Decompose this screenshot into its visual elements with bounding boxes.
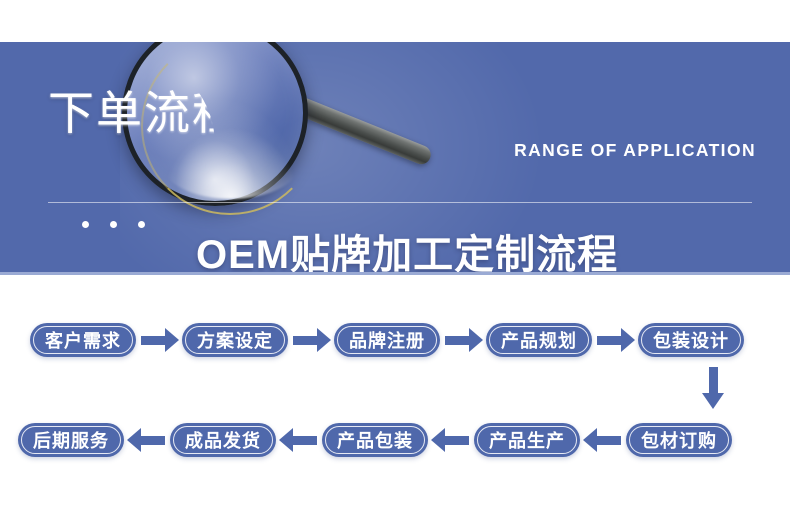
banner-dot	[82, 221, 89, 228]
flow-step-label: 方案设定	[197, 327, 273, 353]
flow-step-after-sales-service[interactable]: 后期服务	[18, 423, 124, 457]
page-title: OEM贴牌加工定制流程	[196, 232, 618, 275]
flow-step-production[interactable]: 产品生产	[474, 423, 580, 457]
arrow-left-icon	[428, 427, 474, 453]
flow-step-label: 产品生产	[489, 427, 565, 453]
banner-dots	[82, 221, 145, 228]
flow-step-label: 包装设计	[653, 327, 729, 353]
arrow-right-icon	[592, 327, 638, 353]
arrow-right-icon	[136, 327, 182, 353]
flow-step-label: 客户需求	[45, 327, 121, 353]
flow-step-label: 后期服务	[33, 427, 109, 453]
banner-dot	[138, 221, 145, 228]
flow-row-top: 客户需求 方案设定 品牌注册 产品规划 包装设计	[30, 323, 744, 357]
process-flow-diagram: 客户需求 方案设定 品牌注册 产品规划 包装设计 后期服务 成品发货	[0, 275, 790, 529]
arrow-left-icon	[124, 427, 170, 453]
flow-step-label: 包材订购	[641, 427, 717, 453]
arrow-left-icon	[276, 427, 322, 453]
flow-step-label: 成品发货	[185, 427, 261, 453]
flow-row-bottom: 后期服务 成品发货 产品包装 产品生产 包材订购	[18, 423, 732, 457]
flow-step-customer-requirement[interactable]: 客户需求	[30, 323, 136, 357]
arrow-right-icon	[440, 327, 486, 353]
flow-step-label: 品牌注册	[349, 327, 425, 353]
banner-divider	[48, 202, 752, 203]
arrow-down-icon	[702, 367, 724, 413]
flow-step-label: 产品规划	[501, 327, 577, 353]
banner-dot	[110, 221, 117, 228]
header-banner: 下单流程 下单流程 RANGE OF APPLICATION OEM贴牌加工定制…	[0, 42, 790, 275]
flow-step-package-design[interactable]: 包装设计	[638, 323, 744, 357]
flow-step-brand-registration[interactable]: 品牌注册	[334, 323, 440, 357]
flow-step-label: 产品包装	[337, 427, 413, 453]
flow-step-packaging-material-order[interactable]: 包材订购	[626, 423, 732, 457]
flow-step-product-packaging[interactable]: 产品包装	[322, 423, 428, 457]
flow-step-plan-setting[interactable]: 方案设定	[182, 323, 288, 357]
arrow-left-icon	[580, 427, 626, 453]
banner-subtitle-en: RANGE OF APPLICATION	[514, 140, 756, 161]
flow-step-product-planning[interactable]: 产品规划	[486, 323, 592, 357]
magnifying-glass-icon	[112, 42, 442, 242]
arrow-right-icon	[288, 327, 334, 353]
flow-step-finished-goods-shipment[interactable]: 成品发货	[170, 423, 276, 457]
